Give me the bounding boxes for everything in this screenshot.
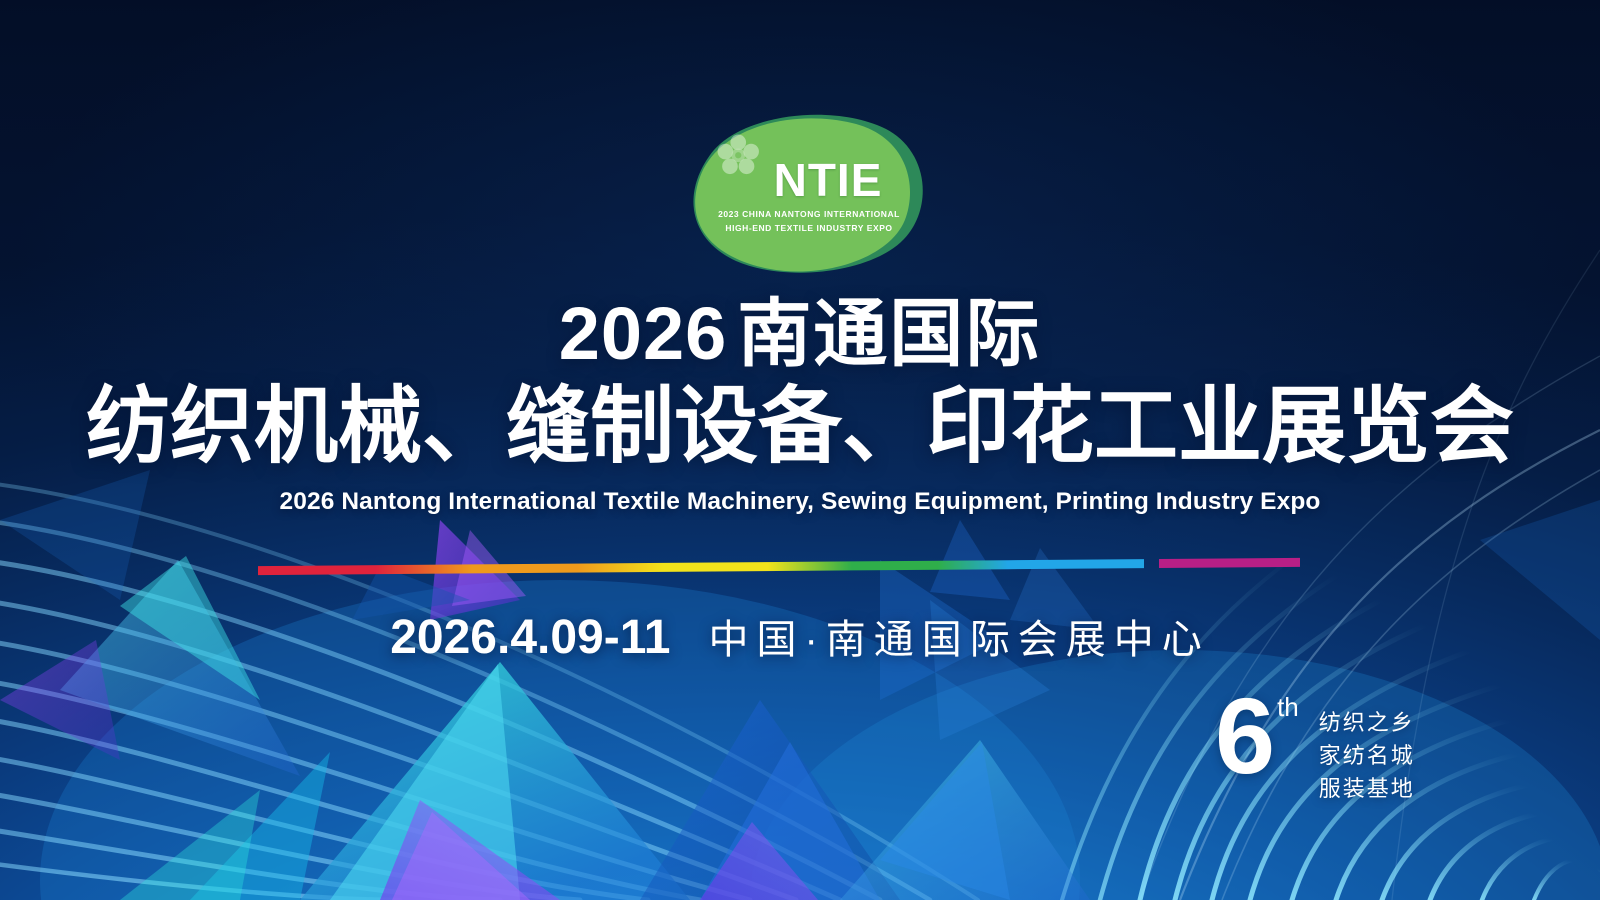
bottom-left-streaks [0,482,978,900]
edition-badge: 6 th 纺织之乡 家纺名城 服装基地 [1215,686,1415,800]
logo-subtitle-line2: HIGH-END TEXTILE INDUSTRY EXPO [725,221,892,235]
city-tags: 纺织之乡 家纺名城 服装基地 [1319,712,1415,800]
city-tag: 服装基地 [1319,778,1415,800]
polygon-shards [0,520,1100,900]
rainbow-segment [258,564,472,575]
rainbow-segment [1159,558,1300,568]
event-date: 2026.4.09-11 [390,611,670,664]
headline-block: 2026南通国际 纺织机械、缝制设备、印花工业展览会 2026 Nantong … [0,296,1600,516]
date-venue-line: 2026.4.09-11中国·南通国际会展中心 [0,607,1600,665]
title-line-1-rest: 南通国际 [737,292,1041,375]
title-english: 2026 Nantong International Textile Machi… [0,488,1600,516]
edition-ordinal: th [1277,694,1299,720]
rainbow-segment [852,560,1008,570]
logo-wordmark: NTIE [774,157,883,203]
city-tag: 家纺名城 [1319,745,1415,767]
ntie-logo: NTIE 2023 CHINA NANTONG INTERNATIONAL HI… [666,103,934,283]
event-venue: 中国·南通国际会展中心 [708,618,1209,662]
poster-canvas: NTIE 2023 CHINA NANTONG INTERNATIONAL HI… [0,0,1600,900]
city-tag: 纺织之乡 [1319,712,1415,734]
title-line-1: 2026南通国际 [0,296,1600,371]
logo-subtitle-line1: 2023 CHINA NANTONG INTERNATIONAL [718,207,900,221]
rainbow-segment [664,561,852,571]
rainbow-segment [472,563,665,574]
edition-number: 6 [1215,686,1275,785]
rainbow-segment [1008,559,1143,569]
rainbow-divider [258,558,1300,575]
title-year: 2026 [559,292,728,375]
title-line-2: 纺织机械、缝制设备、印花工业展览会 [0,381,1600,472]
